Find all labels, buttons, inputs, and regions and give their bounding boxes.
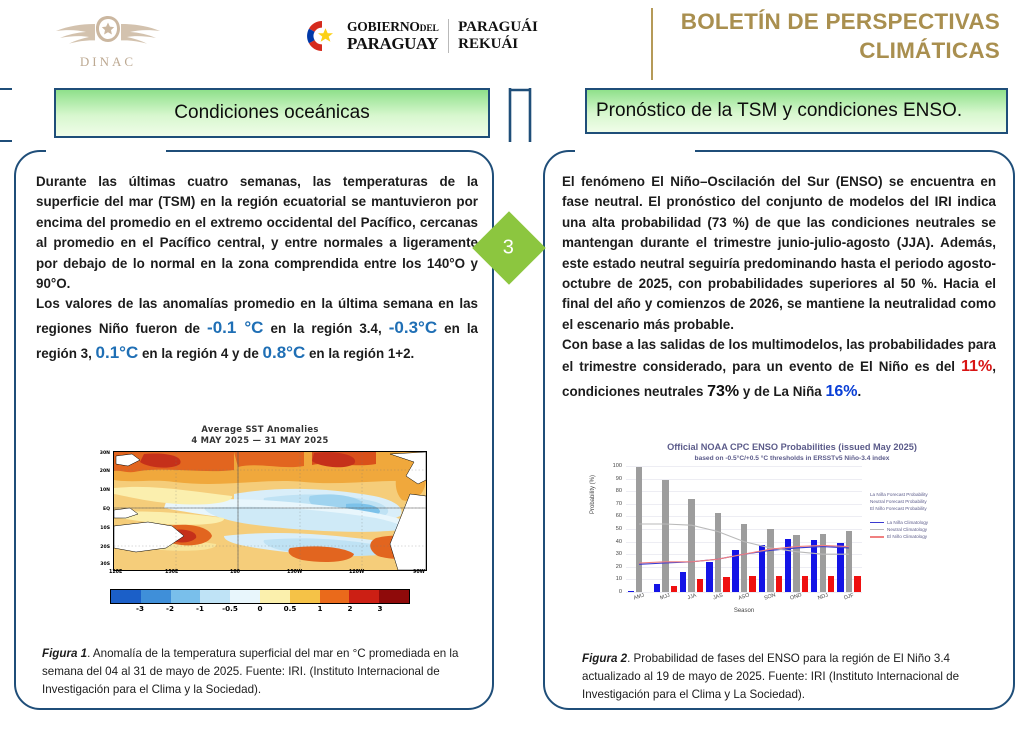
chart-plot: Probability (%) 0102030405060708090100 A… [592,466,992,626]
figure-2-caption: Figura 2. Probabilidad de fases del ENSO… [582,650,997,704]
chart-xtick: JAS [712,593,723,602]
ytick-6: 30S [100,562,110,567]
figure-1-sst-map: Average SST Anomalies 4 MAY 2025 — 31 MA… [60,424,460,629]
ytick-3: EQ [103,507,110,512]
chart-legend-climatology: La Niña ClimatologyNeutral ClimatologyEl… [870,519,988,541]
chart-ylabel: Probability (%) [590,475,596,514]
cbar-swatch-8 [349,590,379,603]
right-body-text: El fenómeno El Niño–Oscilación del Sur (… [562,172,996,404]
chart-xtick: JJA [686,593,696,601]
figure-1-caption: Figura 1. Anomalía de la temperatura sup… [42,645,462,699]
sst-anomaly-map [113,451,427,571]
right-paragraph-1: El fenómeno El Niño–Oscilación del Sur (… [562,172,996,335]
cbar-label-3: -0.5 [222,604,238,613]
chart-ytick: 70 [616,501,622,507]
cbar-swatch-6 [290,590,320,603]
cbar-swatch-0 [111,590,141,603]
page-number-label: 3 [503,237,514,260]
figure-2-enso-chart: Official NOAA CPC ENSO Probabilities (is… [592,442,992,638]
chart-xtick: SON [764,592,777,601]
dinac-logo: DINAC [34,4,182,78]
chart-title: Official NOAA CPC ENSO Probabilities (is… [592,442,992,454]
section-title-oceanic[interactable]: Condiciones oceánicas [54,88,490,138]
cbar-swatch-9 [379,590,409,603]
left-p2-b: en la región 3.4, [263,321,388,336]
lanina-probability-value: 16% [825,383,857,400]
chart-ytick: 10 [616,576,622,582]
chart-legend-label: Neutral Climatology [887,526,927,533]
cbar-label-2: -1 [196,604,204,613]
chart-xtick: MJJ [660,593,671,602]
chart-legend-item: La Niña Climatology [870,519,988,526]
right-p2-a: Con base a las salidas de los multimodel… [562,337,996,374]
right-p2-d: . [858,384,862,399]
chart-legend-item: El Niño Forecast Probability [870,506,988,513]
cbar-label-7: 2 [347,604,352,613]
chart-yticks: 0102030405060708090100 [604,466,624,592]
section-title-enso[interactable]: Pronóstico de la TSM y condiciones ENSO. [585,88,1008,134]
left-paragraph-2: Los valores de las anomalías promedio en… [36,294,478,366]
cbar-swatch-3 [200,590,230,603]
cbar-label-8: 3 [377,604,382,613]
chart-subtitle: based on -0.5°C/+0.5 °C thresholds in ER… [592,455,992,462]
nino12-anomaly-value: 0.8°C [263,343,306,362]
cbar-swatch-4 [230,590,260,603]
chart-legend-swatch [870,529,884,531]
right-paragraph-2: Con base a las salidas de los multimodel… [562,335,996,404]
chart-ytick: 80 [616,488,622,494]
gob-right2: REKUÁI [458,37,538,52]
chart-legend-label: La Niña Climatology [887,519,928,526]
page-title-line2: CLIMÁTICAS [560,37,1000,66]
wordmark-divider [448,19,450,53]
dinac-wings-icon [38,12,178,56]
chart-ytick: 40 [616,539,622,545]
chart-xticks: AMJMJJJJAJASASOSONONDNDJDJF [626,594,862,606]
chart-legend-item: Neutral Climatology [870,526,988,533]
sst-map-x-axis: 120E 150E 180 150W 120W 90W [113,570,425,582]
chart-legend-forecast: La Niña Forecast ProbabilityNeutral Fore… [870,492,988,513]
sst-colorbar-swatches [110,589,410,604]
cbar-swatch-2 [171,590,201,603]
slide-page: DINAC GOBIERNODEL PARAGUAY PA [0,0,1024,730]
cbar-label-4: 0 [257,604,262,613]
xtick-3: 150W [287,570,302,575]
gob-line1: GOBIERNO [347,19,420,34]
gob-right1: PARAGUÁI [458,20,538,35]
chart-legend-item: Neutral Forecast Probability [870,499,988,506]
ytick-5: 20S [100,545,110,550]
chart-legend-item: La Niña Forecast Probability [870,492,988,499]
left-p2-e: en la región 1+2. [305,346,414,361]
chart-ytick: 90 [616,476,622,482]
chart-ytick: 100 [613,463,622,469]
figure-1-title-line2: 4 MAY 2025 — 31 MAY 2025 [60,435,460,446]
cbar-swatch-5 [260,590,290,603]
chart-xlabel: Season [626,608,862,614]
nino34-anomaly-value: -0.1 °C [207,318,263,337]
dinac-label: DINAC [80,54,136,70]
sst-colorbar-labels: -3 -2 -1 -0.5 0 0.5 1 2 3 [110,604,410,616]
sst-map-y-axis: 30N 20N 10N EQ 10S 20S 30S [91,451,111,569]
chart-legend-swatch [870,536,884,538]
page-title-line1: BOLETÍN DE PERSPECTIVAS [560,8,1000,37]
chart-legend-label: El Niño Climatology [887,533,927,540]
gobierno-wordmark: GOBIERNODEL PARAGUAY PARAGUÁI REKUÁI [347,19,538,53]
cbar-swatch-7 [320,590,350,603]
mid-bracket-decoration [508,88,532,142]
left-bracket-decoration [0,88,12,142]
chart-ytick: 20 [616,564,622,570]
elnino-probability-value: 11% [961,358,992,375]
cbar-label-5: 0.5 [284,604,297,613]
ytick-0: 30N [100,451,110,456]
ytick-4: 10S [100,526,110,531]
xtick-1: 150E [165,570,178,575]
chart-legend: La Niña Forecast ProbabilityNeutral Fore… [870,492,988,541]
nino4-anomaly-value: 0.1°C [96,343,139,362]
gobierno-paraguay-logo: GOBIERNODEL PARAGUAY PARAGUÁI REKUÁI [305,14,538,58]
cbar-swatch-1 [141,590,171,603]
chart-ytick: 30 [616,551,622,557]
chart-xtick: DJF [843,593,854,602]
right-p2-c: y de La Niña [739,384,825,399]
chart-xtick: OND [790,592,803,601]
page-title: BOLETÍN DE PERSPECTIVAS CLIMÁTICAS [560,8,1000,66]
gob-line2: PARAGUAY [347,35,439,52]
chart-climatology-lines [626,466,862,592]
chart-xtick: AMJ [633,592,645,601]
xtick-0: 120E [109,570,122,575]
chart-ytick: 60 [616,513,622,519]
nino3-anomaly-value: -0.3°C [389,318,437,337]
ytick-1: 20N [100,469,110,474]
cbar-label-6: 1 [317,604,322,613]
page-header: DINAC GOBIERNODEL PARAGUAY PA [0,0,1024,86]
chart-climatology-line [639,524,849,554]
neutral-probability-value: 73% [707,383,739,400]
figure-2-caption-label: Figura 2 [582,652,627,665]
cbar-label-1: -2 [166,604,174,613]
xtick-2: 180 [230,570,240,575]
chart-ytick: 0 [619,589,622,595]
sst-colorbar: -3 -2 -1 -0.5 0 0.5 1 2 3 [110,589,410,619]
xtick-5: 90W [413,570,425,575]
left-p2-d: en la región 4 y de [138,346,262,361]
chart-xtick: ASO [738,592,751,601]
chart-legend-swatch [870,522,884,524]
cbar-label-0: -3 [136,604,144,613]
left-body-text: Durante las últimas cuatro semanas, las … [36,172,478,366]
chart-xtick: NDJ [817,592,829,601]
figure-1-caption-text: . Anomalía de la temperatura superficial… [42,647,458,696]
chart-plot-area [626,466,862,593]
gob-line1-small: DEL [420,24,439,34]
figure-1-caption-label: Figura 1 [42,647,87,660]
left-paragraph-1: Durante las últimas cuatro semanas, las … [36,172,478,294]
figure-1-title-line1: Average SST Anomalies [60,424,460,435]
section-title-enso-label: Pronóstico de la TSM y condiciones ENSO. [596,100,962,122]
section-title-oceanic-label: Condiciones oceánicas [174,102,369,124]
xtick-4: 120W [349,570,364,575]
figure-2-caption-text: . Probabilidad de fases del ENSO para la… [582,652,959,701]
paraguay-emblem-icon [305,19,339,53]
sst-map-wrapper: 30N 20N 10N EQ 10S 20S 30S [91,451,429,575]
ytick-2: 10N [100,488,110,493]
chart-ytick: 50 [616,526,622,532]
figure-1-title: Average SST Anomalies 4 MAY 2025 — 31 MA… [60,424,460,447]
chart-legend-item: El Niño Climatology [870,533,988,540]
